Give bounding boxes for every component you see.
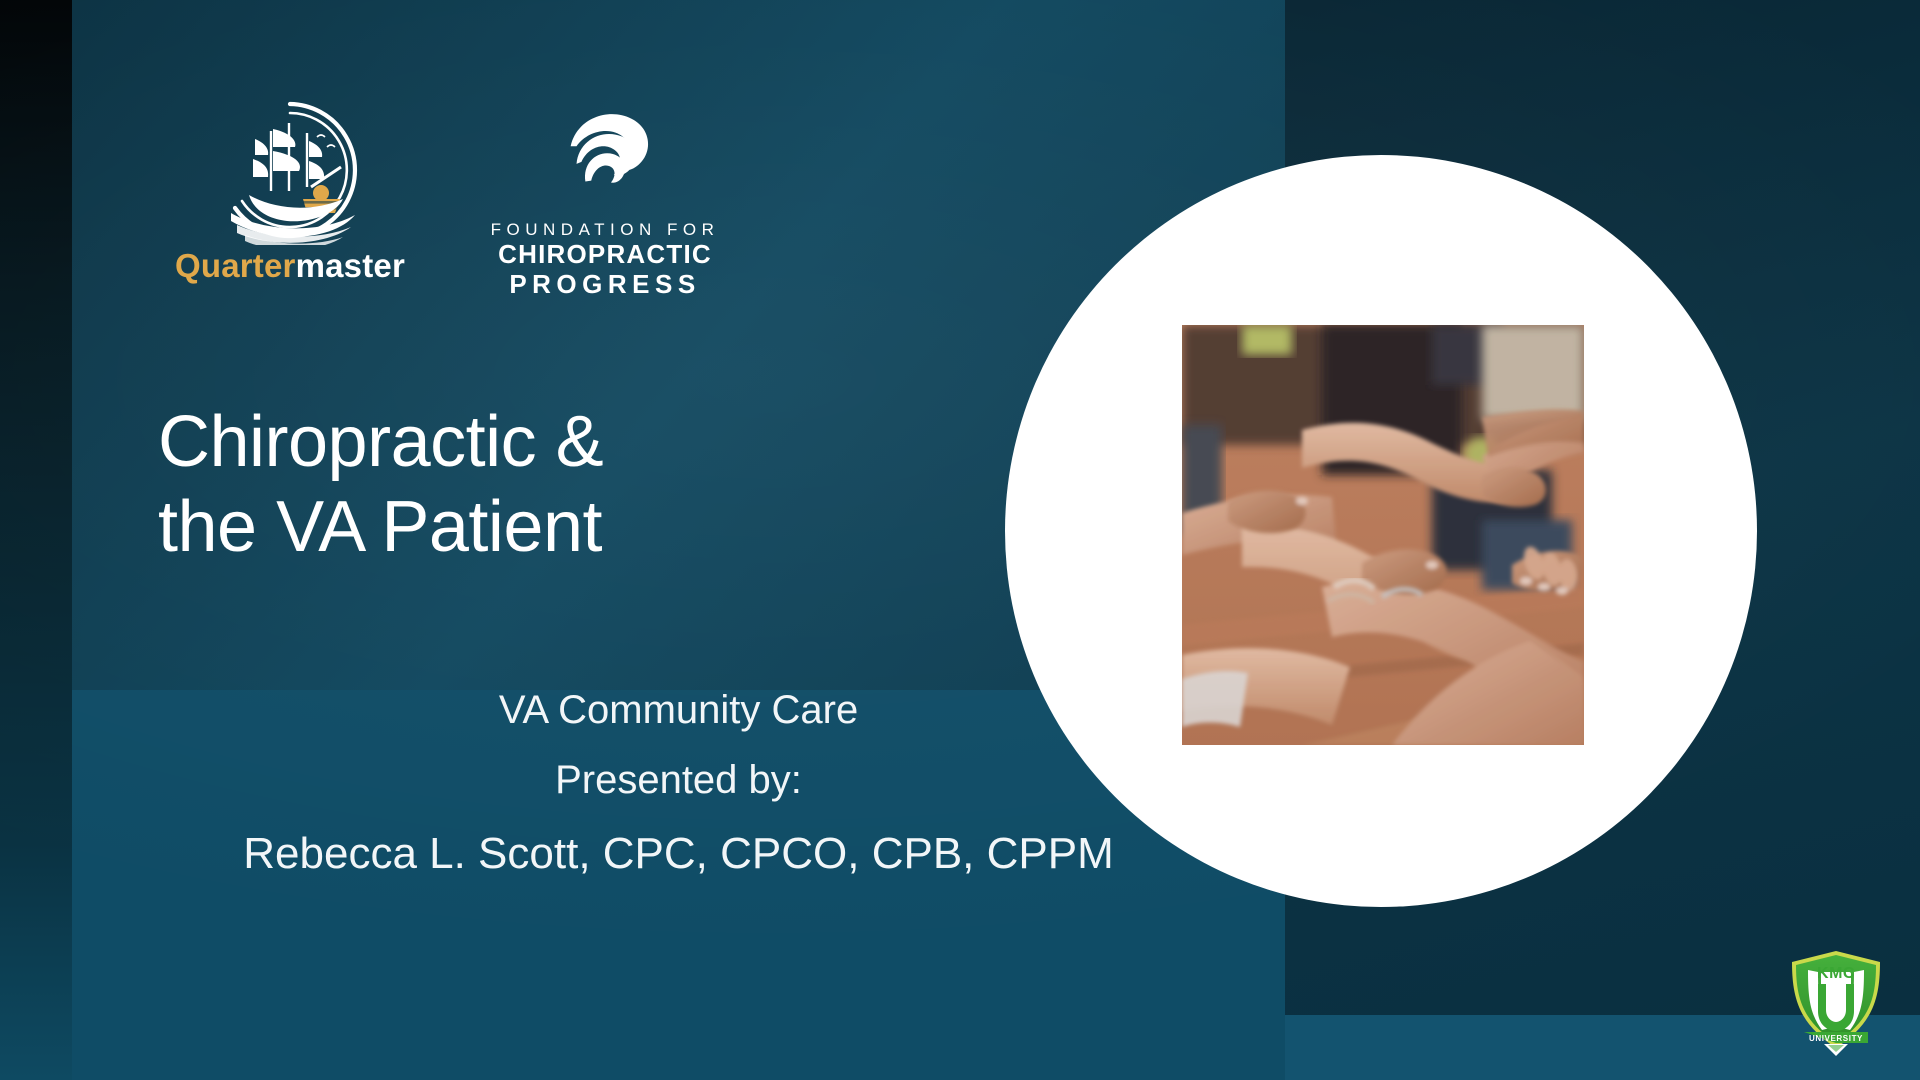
subtitle-topic: VA Community Care: [72, 690, 1285, 730]
quartermaster-ship-logo: [215, 95, 365, 245]
svg-text:KMC: KMC: [1817, 965, 1855, 982]
slide-title: Chiropractic & the VA Patient: [158, 400, 918, 570]
f4cp-swirl-logo: [551, 103, 659, 211]
slide-background-left-strip: [0, 0, 72, 1080]
presentation-slide: Quartermaster FOUNDATION FOR CHIROPRACTI…: [0, 0, 1920, 1080]
slide-title-line2: the VA Patient: [158, 485, 918, 570]
quartermaster-logo: Quartermaster: [160, 95, 420, 282]
subtitle-presented-by-label: Presented by:: [72, 760, 1285, 800]
f4cp-name-line1: CHIROPRACTIC: [460, 240, 750, 270]
quartermaster-wordmark: Quartermaster: [160, 249, 420, 282]
svg-text:UNIVERSITY: UNIVERSITY: [1809, 1034, 1863, 1043]
quartermaster-wordmark-part2: master: [296, 247, 405, 284]
kmc-university-shield-logo: KMC UNIVERSITY: [1788, 948, 1884, 1060]
slide-subtitle: VA Community Care Presented by: Rebecca …: [72, 690, 1285, 876]
subtitle-presenter-name: Rebecca L. Scott, CPC, CPCO, CPB, CPPM: [72, 832, 1285, 876]
f4cp-tagline: FOUNDATION FOR: [460, 219, 750, 240]
logo-row: Quartermaster FOUNDATION FOR CHIROPRACTI…: [150, 95, 770, 300]
f4cp-name-line2: PROGRESS: [460, 270, 750, 300]
slide-title-line1: Chiropractic &: [158, 400, 918, 485]
quartermaster-wordmark-part1: Quarter: [175, 247, 296, 284]
f4cp-logo: FOUNDATION FOR CHIROPRACTIC PROGRESS: [460, 103, 750, 300]
hands-joined-teamwork-photo: [1182, 325, 1584, 745]
